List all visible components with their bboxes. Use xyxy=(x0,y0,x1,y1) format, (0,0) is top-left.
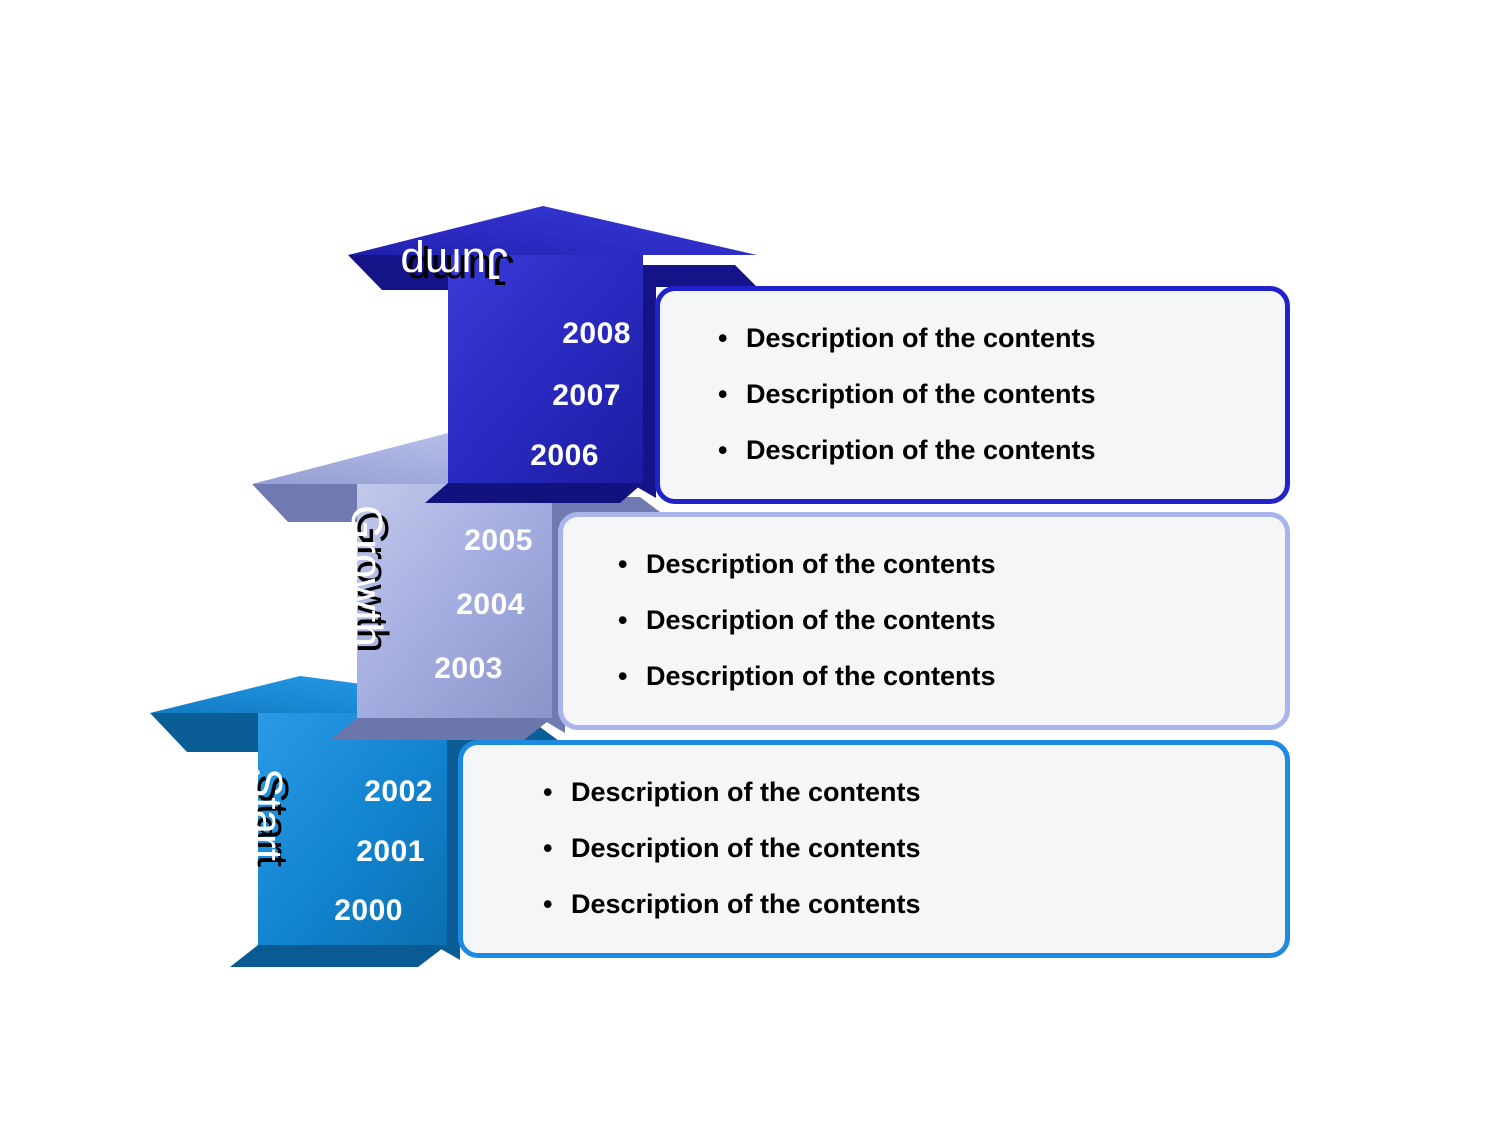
bullet-label: Description of the contents xyxy=(571,890,921,920)
bullet-icon: • xyxy=(718,380,746,410)
list-item: • Description of the contents xyxy=(543,834,1285,864)
bullet-label: Description of the contents xyxy=(646,550,996,580)
bullet-label: Description of the contents xyxy=(646,606,996,636)
bullet-icon: • xyxy=(618,662,646,692)
year-label-2006: 2006 xyxy=(424,439,599,473)
list-item: • Description of the contents xyxy=(718,324,1285,354)
bullet-label: Description of the contents xyxy=(571,834,921,864)
list-item: • Description of the contents xyxy=(718,380,1285,410)
bullet-icon: • xyxy=(543,834,571,864)
list-item: • Description of the contents xyxy=(618,550,1285,580)
slide-canvas: • Description of the contents • Descript… xyxy=(0,0,1500,1125)
list-item: • Description of the contents xyxy=(618,662,1285,692)
bullet-icon: • xyxy=(543,890,571,920)
bullet-icon: • xyxy=(718,436,746,466)
jump-content-box[interactable]: • Description of the contents • Descript… xyxy=(655,286,1290,504)
bullet-label: Description of the contents xyxy=(571,778,921,808)
year-label-2008: 2008 xyxy=(456,317,631,351)
year-label-2007: 2007 xyxy=(446,379,621,413)
bullet-label: Description of the contents xyxy=(746,436,1096,466)
start-stage-label-text: Start xyxy=(244,768,288,861)
bullet-label: Description of the contents xyxy=(746,380,1096,410)
jump-arrow-bottom-face xyxy=(425,483,643,503)
bullet-icon: • xyxy=(618,606,646,636)
bullet-label: Description of the contents xyxy=(746,324,1096,354)
list-item: • Description of the contents xyxy=(543,890,1285,920)
year-label-2003: 2003 xyxy=(328,652,503,686)
list-item: • Description of the contents xyxy=(718,436,1285,466)
bullet-icon: • xyxy=(543,778,571,808)
bullet-icon: • xyxy=(718,324,746,354)
bullet-label: Description of the contents xyxy=(646,662,996,692)
list-item: • Description of the contents xyxy=(543,778,1285,808)
start-content-box[interactable]: • Description of the contents • Descript… xyxy=(458,740,1290,958)
bullet-icon: • xyxy=(618,550,646,580)
growth-content-box[interactable]: • Description of the contents • Descript… xyxy=(558,512,1290,730)
list-item: • Description of the contents xyxy=(618,606,1285,636)
jump-stage-label-text: Jump xyxy=(400,241,508,285)
jump-arrow-right-underside xyxy=(643,265,757,287)
year-label-2000: 2000 xyxy=(228,894,403,928)
growth-stage-label-text: Growth xyxy=(344,505,388,647)
